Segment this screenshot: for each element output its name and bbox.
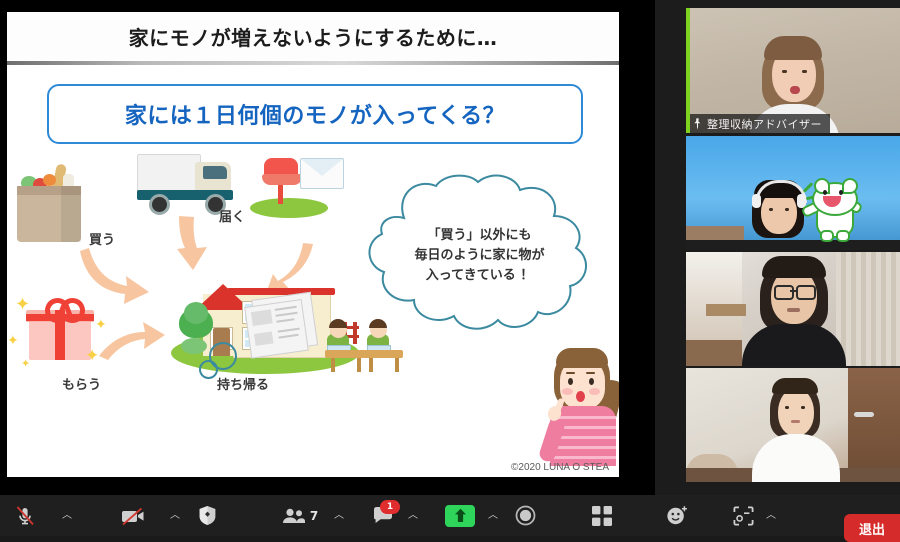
chevron-up-icon: ︿ — [334, 511, 344, 521]
slide-question-text: 家には１日何個のモノが入ってくる？ — [125, 98, 505, 130]
label-receive: もらう — [62, 374, 101, 393]
mute-options-caret[interactable]: ︿ — [58, 495, 76, 536]
shield-icon — [198, 505, 217, 526]
chevron-up-icon: ︿ — [766, 511, 776, 521]
more-options-button[interactable] — [726, 495, 760, 536]
sparkle-icon: ✦ — [7, 334, 19, 348]
mute-button[interactable] — [8, 495, 42, 536]
shopping-bag-illustration — [17, 164, 81, 242]
record-circle-icon — [515, 505, 536, 526]
label-bring-home: 持ち帰る — [217, 374, 269, 393]
focus-frame-icon — [733, 506, 754, 526]
video-tile-3[interactable] — [686, 252, 900, 366]
sparkle-icon: ✦ — [21, 358, 30, 369]
microphone-muted-icon — [15, 505, 35, 527]
participants-options-caret[interactable]: ︿ — [330, 495, 348, 536]
slide-title-bar: 家にモノが増えないようにするために… — [7, 12, 619, 60]
chevron-up-icon: ︿ — [408, 511, 418, 521]
grid-squares-icon — [592, 506, 612, 526]
bubble-line-3: 入ってきている ！ — [352, 266, 607, 286]
video-feed-4 — [686, 368, 900, 482]
thinking-woman-illustration — [542, 344, 619, 469]
breakout-rooms-button[interactable] — [585, 495, 619, 536]
chevron-up-icon: ︿ — [62, 511, 72, 521]
video-feed-2 — [686, 136, 900, 250]
more-options-caret[interactable]: ︿ — [762, 495, 780, 536]
sparkle-icon: ✦ — [95, 318, 107, 332]
slide-question-box: 家には１日何個のモノが入ってくる？ — [47, 84, 583, 144]
video-tile-1[interactable]: 整理収納アドバイザー — [686, 8, 900, 133]
delivery-truck-illustration — [137, 150, 237, 212]
chat-options-caret[interactable]: ︿ — [404, 495, 422, 536]
participant-filmstrip: 整理収納アドバイザー — [681, 0, 900, 495]
chat-unread-badge: 1 — [380, 500, 400, 514]
slide-title: 家にモノが増えないようにするために… — [129, 22, 498, 51]
video-tile-4[interactable] — [686, 368, 900, 482]
thought-bubble-text: 「買う」以外にも 毎日のように家に物が 入ってきている ！ — [352, 226, 607, 286]
video-tile-2[interactable] — [686, 136, 900, 250]
leave-meeting-button[interactable]: 退出 — [844, 514, 900, 542]
gift-box-illustration — [29, 302, 91, 360]
sparkle-icon: ✦ — [15, 296, 30, 314]
share-screen-button[interactable] — [440, 495, 480, 536]
participants-icon — [282, 508, 306, 524]
security-button[interactable] — [190, 495, 224, 536]
video-options-caret[interactable]: ︿ — [166, 495, 184, 536]
slide-copyright: ©2020 LUNA O STEA — [511, 462, 609, 473]
participant-name-chip-1: 整理収納アドバイザー — [686, 114, 830, 133]
thought-bubble: 「買う」以外にも 毎日のように家に物が 入ってきている ！ — [352, 172, 607, 344]
participants-button[interactable]: 7 — [274, 495, 326, 536]
chat-button[interactable]: 1 — [366, 495, 400, 536]
pin-icon — [692, 118, 703, 130]
video-muted-icon — [120, 506, 146, 526]
presentation-slide: 家にモノが増えないようにするために… 家には１日何個のモノが入ってくる？ — [7, 12, 619, 477]
reactions-button[interactable] — [660, 495, 694, 536]
label-deliver: 届く — [219, 206, 245, 225]
title-divider-rule — [7, 61, 619, 65]
chevron-up-icon: ︿ — [170, 511, 180, 521]
participants-count: 7 — [310, 509, 318, 523]
share-screen-up-arrow-icon — [445, 505, 475, 527]
panel-divider[interactable] — [655, 0, 681, 495]
mailbox-illustration — [250, 158, 328, 218]
sparkle-icon: ✦ — [85, 348, 99, 365]
label-buy: 買う — [89, 229, 115, 248]
bubble-line-1: 「買う」以外にも — [352, 226, 607, 246]
bubble-line-2: 毎日のように家に物が — [352, 246, 607, 266]
share-options-caret[interactable]: ︿ — [484, 495, 502, 536]
chevron-up-icon: ︿ — [488, 511, 498, 521]
mascot-character — [810, 182, 860, 240]
slide-diagram: 買う 届く — [7, 144, 619, 477]
thought-bubble-dot-small — [199, 360, 218, 379]
participant-name-1: 整理収納アドバイザー — [707, 116, 822, 132]
meeting-toolbar: ︿ ︿ — [0, 495, 900, 536]
shared-screen-region[interactable]: 家にモノが増えないようにするために… 家には１日何個のモノが入ってくる？ — [0, 0, 660, 495]
smiley-plus-icon — [666, 505, 688, 526]
zoom-meeting-window: 家にモノが増えないようにするために… 家には１日何個のモノが入ってくる？ — [0, 0, 900, 536]
record-button[interactable] — [508, 495, 542, 536]
video-button[interactable] — [116, 495, 150, 536]
video-feed-3 — [686, 252, 900, 366]
newspaper-illustration — [243, 291, 320, 358]
